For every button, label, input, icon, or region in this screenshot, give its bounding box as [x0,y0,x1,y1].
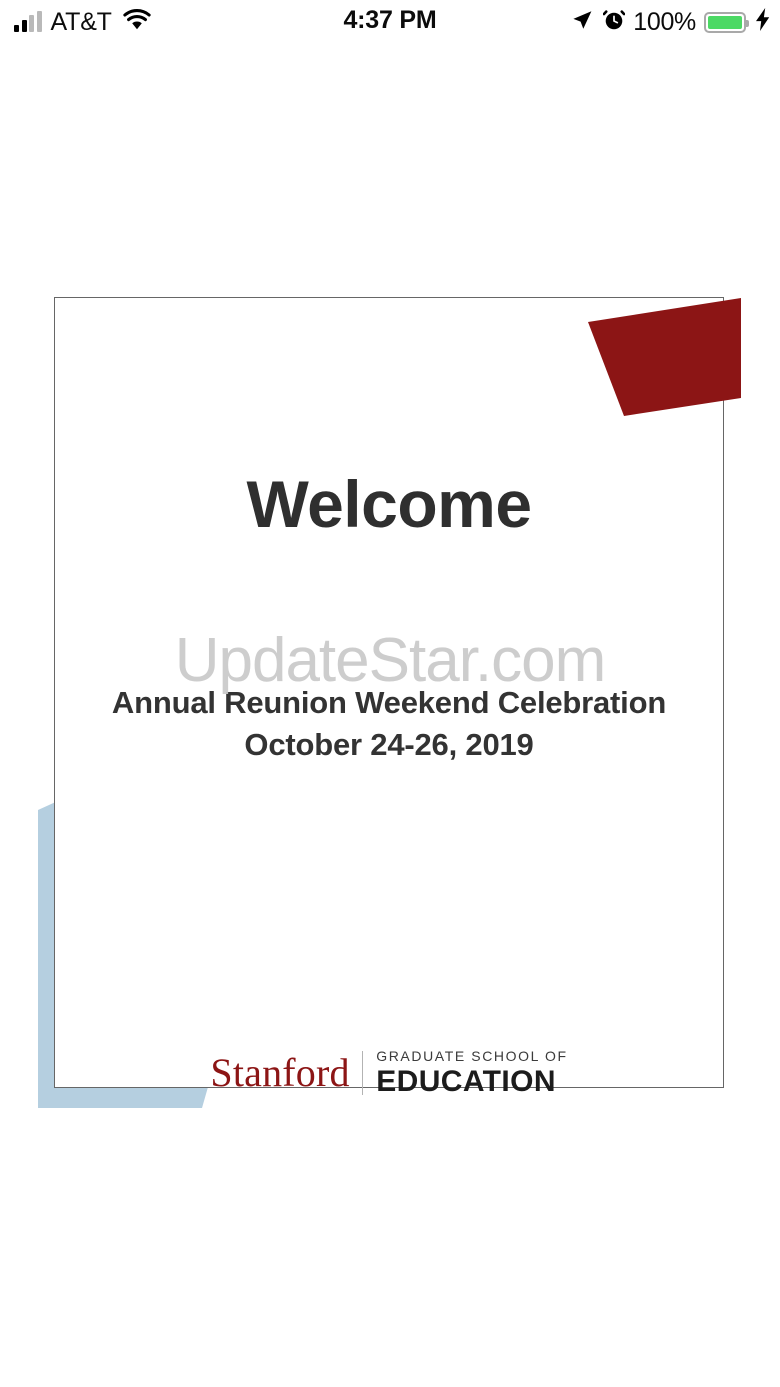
red-corner-accent [580,270,748,416]
location-arrow-icon [571,9,593,36]
status-bar: AT&T 4:37 PM 100% [0,0,780,46]
battery-percentage-label: 100% [633,10,696,35]
slide-area: Welcome Annual Reunion Weekend Celebrati… [0,46,780,1387]
lightning-bolt-icon [756,8,770,36]
alarm-clock-icon [603,8,625,36]
battery-icon [704,12,746,33]
status-bar-right-group: 100% [571,5,770,39]
